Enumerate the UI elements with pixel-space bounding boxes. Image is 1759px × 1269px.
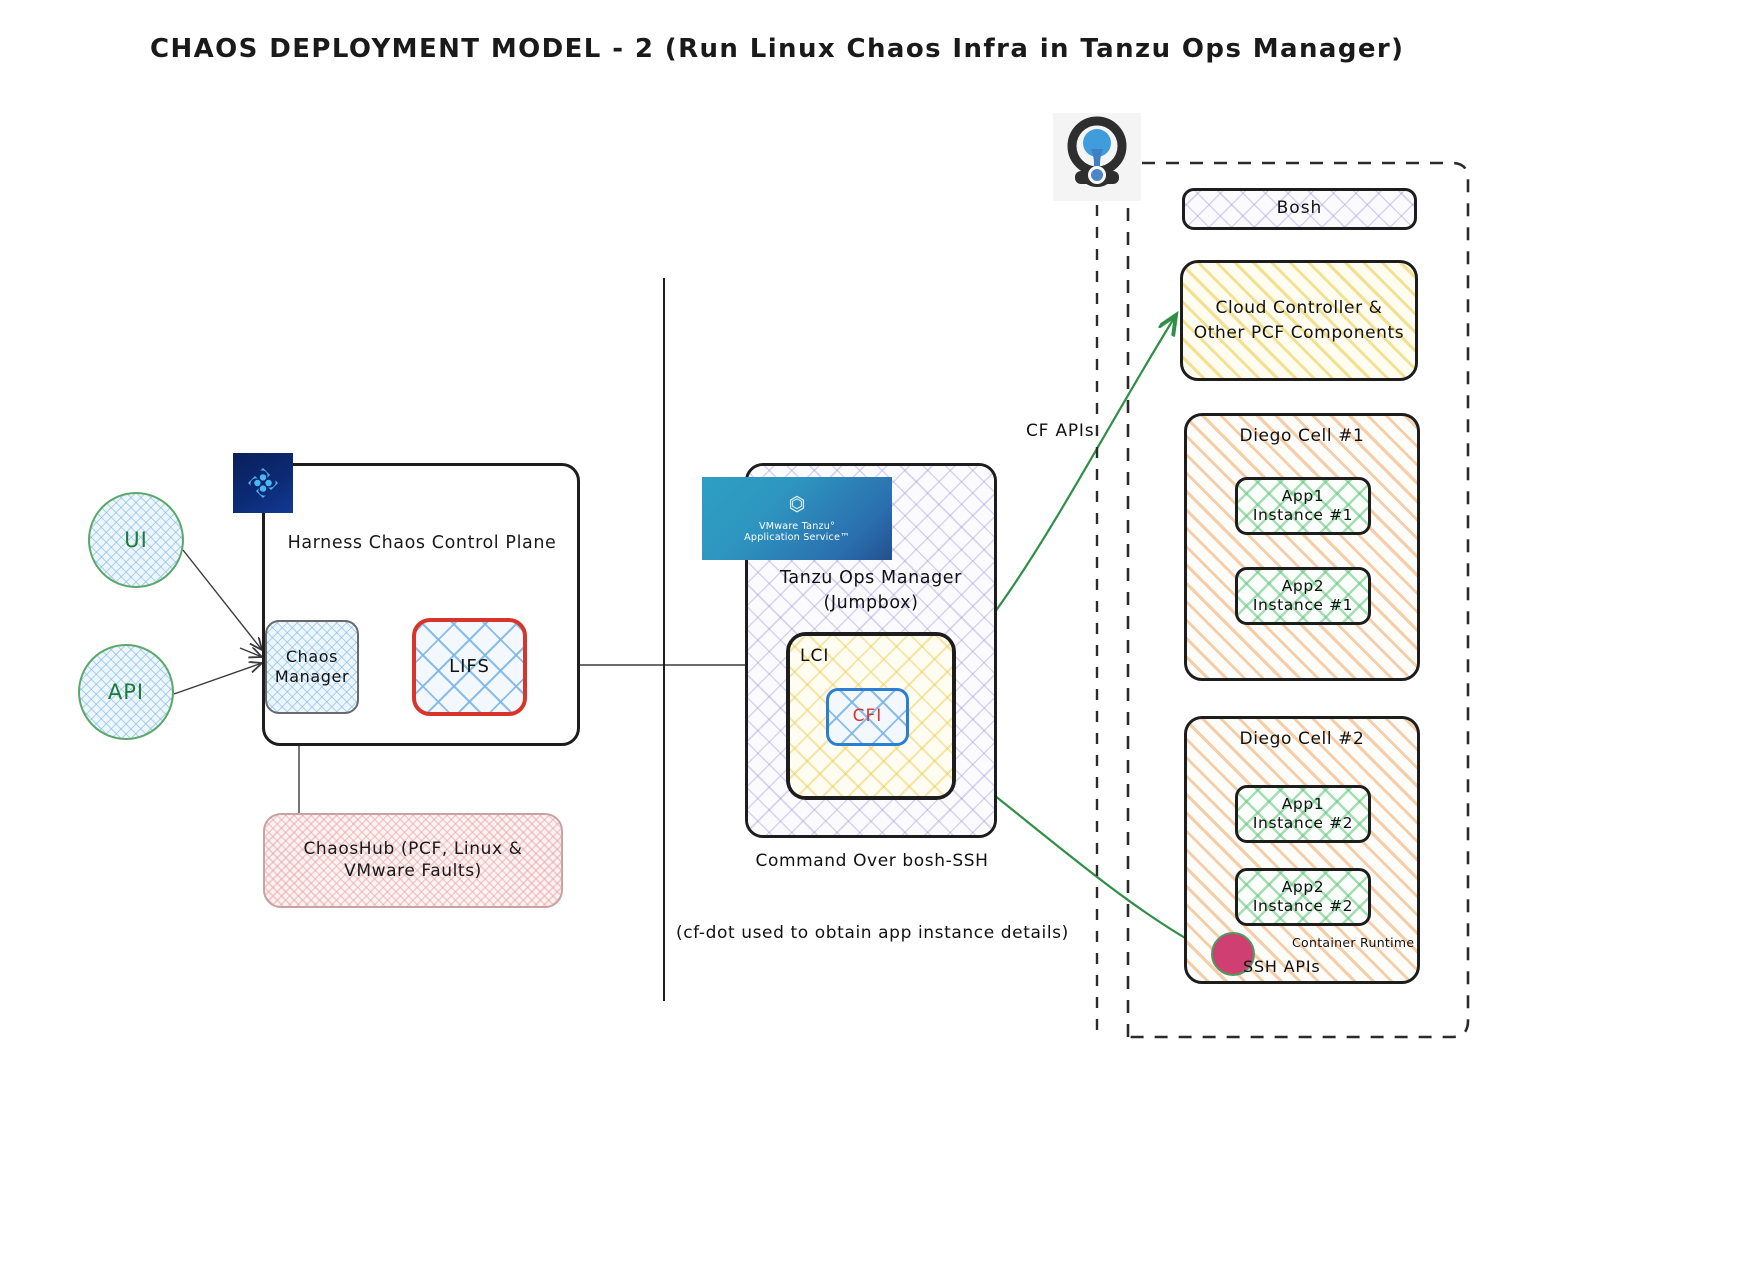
d1-app1-line2: Instance #1 (1253, 506, 1353, 525)
node-chaoshub[interactable]: ChaosHub (PCF, Linux & VMware Faults) (263, 813, 563, 908)
d1-app2-line1: App2 (1253, 577, 1353, 596)
vertical-divider (663, 278, 665, 1001)
diego-cell-1-label: Diego Cell #1 (1184, 426, 1420, 446)
node-app1-instance1[interactable]: App1 Instance #1 (1235, 477, 1371, 535)
tanzu-logo-line1: VMware Tanzu° (759, 521, 835, 532)
chaos-manager-line2: Manager (275, 667, 349, 687)
node-ui[interactable]: UI (88, 492, 184, 588)
d1-app1-line1: App1 (1253, 487, 1353, 506)
node-cloud-controller[interactable]: Cloud Controller & Other PCF Components (1180, 260, 1418, 381)
ssh-apis-label: SSH APIs (1243, 957, 1320, 976)
node-app2-instance1[interactable]: App2 Instance #1 (1235, 567, 1371, 625)
diagram-canvas: CHAOS DEPLOYMENT MODEL - 2 (Run Linux Ch… (0, 0, 1759, 1269)
chaoshub-line1: ChaosHub (PCF, Linux & (303, 839, 522, 860)
harness-logo (233, 453, 293, 513)
d2-app2-line2: Instance #2 (1253, 897, 1353, 916)
node-diego-cell-1[interactable] (1184, 413, 1420, 681)
tanzu-ops-manager-label: Tanzu Ops Manager (Jumpbox) (758, 566, 984, 615)
arrow-ui-to-chaos-manager (183, 550, 262, 650)
ops-manager-line2: (Jumpbox) (758, 591, 984, 616)
chaoshub-line2: VMware Faults) (303, 861, 522, 882)
ops-manager-line1: Tanzu Ops Manager (758, 566, 984, 591)
cloud-foundry-logo-glyph (1053, 113, 1141, 201)
arrow-logo-tip (240, 648, 262, 657)
container-runtime-label: Container Runtime (1292, 935, 1414, 950)
page-title: CHAOS DEPLOYMENT MODEL - 2 (Run Linux Ch… (150, 34, 1404, 64)
node-bosh[interactable]: Bosh (1182, 188, 1417, 230)
cloud-controller-line2: Other PCF Components (1194, 321, 1405, 346)
d1-app2-line2: Instance #1 (1253, 596, 1353, 615)
node-app1-instance2[interactable]: App1 Instance #2 (1235, 785, 1371, 843)
node-app2-instance2[interactable]: App2 Instance #2 (1235, 868, 1371, 926)
control-plane-label: Harness Chaos Control Plane (286, 533, 558, 553)
cloud-controller-line1: Cloud Controller & (1194, 296, 1405, 321)
vmware-tanzu-application-service-logo: VMware Tanzu° Application Service™ (702, 477, 892, 560)
cloud-foundry-logo (1053, 113, 1141, 201)
arrow-api-to-chaos-manager (174, 663, 262, 694)
d2-app2-line1: App2 (1253, 878, 1353, 897)
node-cfi[interactable]: CFI (826, 688, 909, 746)
cf-apis-label: CF APIs (1026, 421, 1094, 441)
diego-cell-2-label: Diego Cell #2 (1184, 729, 1420, 749)
cfdot-note: (cf-dot used to obtain app instance deta… (676, 923, 1106, 943)
bosh-ssh-note: Command Over bosh-SSH (752, 851, 992, 871)
d2-app1-line2: Instance #2 (1253, 814, 1353, 833)
lci-label: LCI (800, 646, 829, 666)
chaos-manager-line1: Chaos (275, 647, 349, 667)
node-lifs[interactable]: LIFS (412, 618, 527, 716)
tanzu-logo-line2: Application Service™ (744, 532, 850, 543)
tanzu-hexagon-icon (786, 494, 808, 516)
node-chaos-manager[interactable]: Chaos Manager (265, 620, 359, 714)
d2-app1-line1: App1 (1253, 795, 1353, 814)
node-api[interactable]: API (78, 644, 174, 740)
harness-logo-glyph (246, 466, 280, 500)
